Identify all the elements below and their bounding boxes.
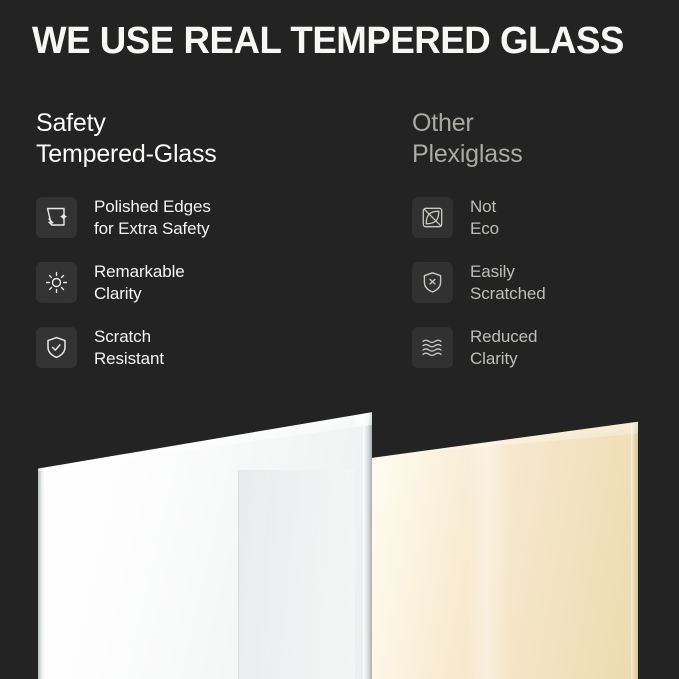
feature-scratch-resistant-label: Scratch Resistant [94,326,164,370]
glass-panel-left-edge [38,404,44,679]
feature-remarkable-clarity-label: Remarkable Clarity [94,261,185,305]
wavy-lines-icon [412,327,453,368]
feature-not-eco-line1: Not [470,197,496,216]
shield-check-icon [36,327,77,368]
column-right-heading: Other Plexiglass [412,108,672,170]
product-comparison-graphic: WE USE REAL TEMPERED GLASS Safety Temper… [0,0,679,679]
leaf-crossed-out-icon [412,197,453,238]
feature-scratch-resistant-line2: Resistant [94,348,164,370]
feature-easily-scratched: Easily Scratched [412,261,672,305]
feature-reduced-clarity: Reduced Clarity [412,326,672,370]
glass-corner-highlight [354,410,370,426]
polished-edge-sparkle-icon [36,197,77,238]
tempered-glass-panel [38,404,372,679]
column-tempered-glass: Safety Tempered-Glass Polished Edges for… [36,108,366,391]
feature-reduced-clarity-line1: Reduced [470,327,537,346]
page-title: WE USE REAL TEMPERED GLASS [32,18,640,64]
feature-remarkable-clarity-line2: Clarity [94,283,185,305]
sun-brightness-icon [36,262,77,303]
feature-easily-scratched-line1: Easily [470,262,515,281]
column-right-heading-line1: Other [412,109,474,137]
column-left-heading-line1: Safety [36,109,106,137]
feature-not-eco: Not Eco [412,196,672,240]
feature-polished-edges-line1: Polished Edges [94,197,211,216]
column-left-heading-line2: Tempered-Glass [36,139,366,170]
glass-panel-right-edge [363,404,372,679]
feature-not-eco-line2: Eco [470,218,499,240]
feature-easily-scratched-line2: Scratched [470,283,546,305]
feature-remarkable-clarity-line1: Remarkable [94,262,185,281]
plexiglass-panel [370,416,638,679]
feature-scratch-resistant: Scratch Resistant [36,326,366,370]
feature-remarkable-clarity: Remarkable Clarity [36,261,366,305]
feature-scratch-resistant-line1: Scratch [94,327,151,346]
feature-reduced-clarity-line2: Clarity [470,348,537,370]
feature-polished-edges-line2: for Extra Safety [94,218,211,240]
feature-reduced-clarity-label: Reduced Clarity [470,326,537,370]
column-left-heading: Safety Tempered-Glass [36,108,366,170]
feature-polished-edges: Polished Edges for Extra Safety [36,196,366,240]
shield-x-icon [412,262,453,303]
feature-easily-scratched-label: Easily Scratched [470,261,546,305]
feature-not-eco-label: Not Eco [470,196,499,240]
feature-polished-edges-label: Polished Edges for Extra Safety [94,196,211,240]
plexiglass-panel-edge [631,416,638,679]
column-right-heading-line2: Plexiglass [412,139,672,170]
column-plexiglass: Other Plexiglass Not Eco [412,108,672,391]
panels-photo [0,396,679,679]
